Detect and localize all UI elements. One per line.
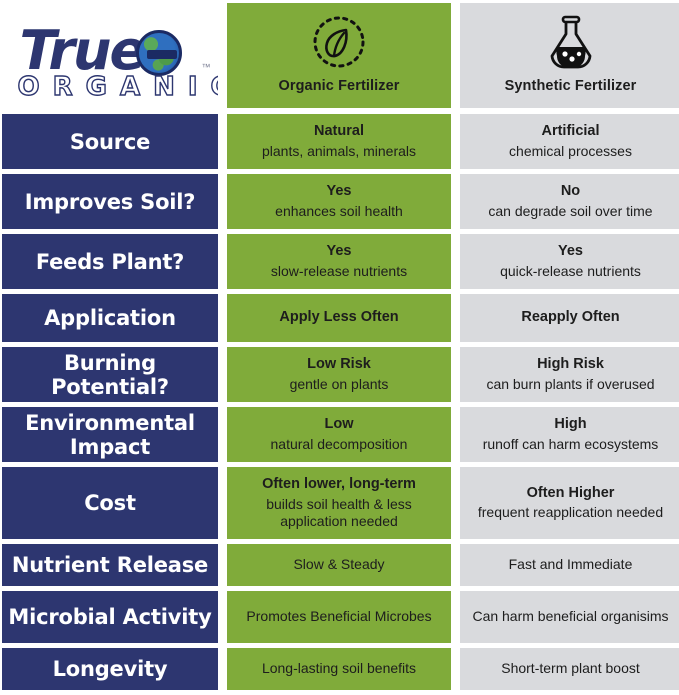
table-row: SourceNaturalplants, animals, mineralsAr…: [2, 114, 677, 169]
value-sub: gentle on plants: [286, 376, 393, 393]
synthetic-value-cell: Fast and Immediate: [460, 544, 679, 586]
value-sub: natural decomposition: [267, 436, 412, 453]
row-label-cell: Microbial Activity: [2, 591, 218, 643]
table-row: Microbial ActivityPromotes Beneficial Mi…: [2, 591, 677, 643]
table-row: CostOften lower, long-termbuilds soil he…: [2, 467, 677, 539]
table-body: SourceNaturalplants, animals, mineralsAr…: [2, 114, 677, 695]
row-label: Environmental Impact: [2, 411, 218, 459]
value-main: High Risk: [537, 356, 604, 374]
value-sub: chemical processes: [505, 143, 636, 160]
synthetic-value-cell: Short-term plant boost: [460, 648, 679, 690]
organic-value-cell: Low Riskgentle on plants: [227, 347, 451, 402]
value-single: Short-term plant boost: [495, 660, 646, 678]
table-row: Improves Soil?Yesenhances soil healthNoc…: [2, 174, 677, 229]
value-single: Promotes Beneficial Microbes: [240, 608, 437, 626]
row-label: Feeds Plant?: [36, 250, 184, 274]
value-sub: slow-release nutrients: [267, 263, 411, 280]
trademark-symbol: ™: [202, 62, 211, 72]
synthetic-value-cell: Artificialchemical processes: [460, 114, 679, 169]
table-row: Burning Potential?Low Riskgentle on plan…: [2, 347, 677, 402]
column-header-organic-label: Organic Fertilizer: [278, 78, 399, 94]
row-label: Microbial Activity: [8, 605, 211, 629]
row-label-cell: Environmental Impact: [2, 407, 218, 462]
row-label-cell: Source: [2, 114, 218, 169]
chemistry-flask-icon: [544, 13, 598, 71]
synthetic-value-cell: Yesquick-release nutrients: [460, 234, 679, 289]
organic-value-cell: Promotes Beneficial Microbes: [227, 591, 451, 643]
row-label: Cost: [84, 491, 136, 515]
value-sub: can degrade soil over time: [484, 203, 656, 220]
value-main: Yes: [327, 183, 352, 201]
value-sub: can burn plants if overused: [482, 376, 658, 393]
row-label: Source: [70, 130, 150, 154]
synthetic-value-cell: Can harm beneficial organisims: [460, 591, 679, 643]
value-main: No: [561, 183, 580, 201]
value-main: Often Higher: [527, 485, 615, 503]
table-row: Environmental ImpactLownatural decomposi…: [2, 407, 677, 462]
row-label-cell: Cost: [2, 467, 218, 539]
row-label-cell: Feeds Plant?: [2, 234, 218, 289]
value-sub: runoff can harm ecosystems: [479, 436, 663, 453]
value-single: Long-lasting soil benefits: [256, 660, 422, 678]
synthetic-value-cell: Nocan degrade soil over time: [460, 174, 679, 229]
table-header-row: True ORGANIC ™ Organic Fertilizer: [2, 3, 677, 108]
value-sub: plants, animals, minerals: [258, 143, 420, 160]
organic-value-cell: Often lower, long-termbuilds soil health…: [227, 467, 451, 539]
value-sub: builds soil health & less application ne…: [227, 496, 451, 530]
value-sub: quick-release nutrients: [496, 263, 645, 280]
table-row: ApplicationApply Less OftenReapply Often: [2, 294, 677, 342]
row-label-cell: Application: [2, 294, 218, 342]
value-sub: frequent reapplication needed: [474, 504, 667, 521]
column-header-organic: Organic Fertilizer: [227, 3, 451, 108]
organic-value-cell: Apply Less Often: [227, 294, 451, 342]
value-sub: enhances soil health: [271, 203, 407, 220]
value-main: Low Risk: [307, 356, 371, 374]
brand-logo: True ORGANIC ™: [2, 3, 218, 108]
row-label-cell: Burning Potential?: [2, 347, 218, 402]
value-single: Fast and Immediate: [503, 556, 639, 574]
table-row: Nutrient ReleaseSlow & SteadyFast and Im…: [2, 544, 677, 586]
column-header-synthetic-label: Synthetic Fertilizer: [505, 78, 637, 94]
value-main: Low: [325, 416, 354, 434]
brand-name-primary: True: [20, 24, 145, 78]
value-single: Can harm beneficial organisims: [466, 608, 674, 626]
organic-value-cell: Yesenhances soil health: [227, 174, 451, 229]
organic-value-cell: Naturalplants, animals, minerals: [227, 114, 451, 169]
globe-icon: [136, 30, 182, 76]
organic-value-cell: Slow & Steady: [227, 544, 451, 586]
row-label-cell: Nutrient Release: [2, 544, 218, 586]
value-main: Reapply Often: [521, 309, 619, 327]
value-main: High: [554, 416, 586, 434]
brand-name-secondary: ORGANIC: [18, 72, 219, 102]
organic-value-cell: Yesslow-release nutrients: [227, 234, 451, 289]
value-main: Natural: [314, 123, 364, 141]
value-single: Slow & Steady: [287, 556, 390, 574]
row-label: Application: [44, 306, 176, 330]
column-header-synthetic: Synthetic Fertilizer: [460, 3, 679, 108]
leaf-in-dashed-circle-icon: [310, 13, 368, 71]
synthetic-value-cell: High Riskcan burn plants if overused: [460, 347, 679, 402]
table-row: LongevityLong-lasting soil benefitsShort…: [2, 648, 677, 690]
row-label-cell: Improves Soil?: [2, 174, 218, 229]
synthetic-value-cell: Often Higherfrequent reapplication neede…: [460, 467, 679, 539]
organic-value-cell: Long-lasting soil benefits: [227, 648, 451, 690]
value-main: Apply Less Often: [279, 309, 398, 327]
row-label: Burning Potential?: [2, 351, 218, 399]
row-label: Improves Soil?: [25, 190, 196, 214]
table-row: Feeds Plant?Yesslow-release nutrientsYes…: [2, 234, 677, 289]
value-main: Artificial: [541, 123, 599, 141]
row-label-cell: Longevity: [2, 648, 218, 690]
row-label: Nutrient Release: [12, 553, 208, 577]
synthetic-value-cell: Highrunoff can harm ecosystems: [460, 407, 679, 462]
value-main: Yes: [327, 243, 352, 261]
comparison-infographic: True ORGANIC ™ Organic Fertilizer: [0, 0, 679, 651]
value-main: Often lower, long-term: [262, 476, 416, 494]
row-label: Longevity: [53, 657, 168, 681]
organic-value-cell: Lownatural decomposition: [227, 407, 451, 462]
synthetic-value-cell: Reapply Often: [460, 294, 679, 342]
value-main: Yes: [558, 243, 583, 261]
